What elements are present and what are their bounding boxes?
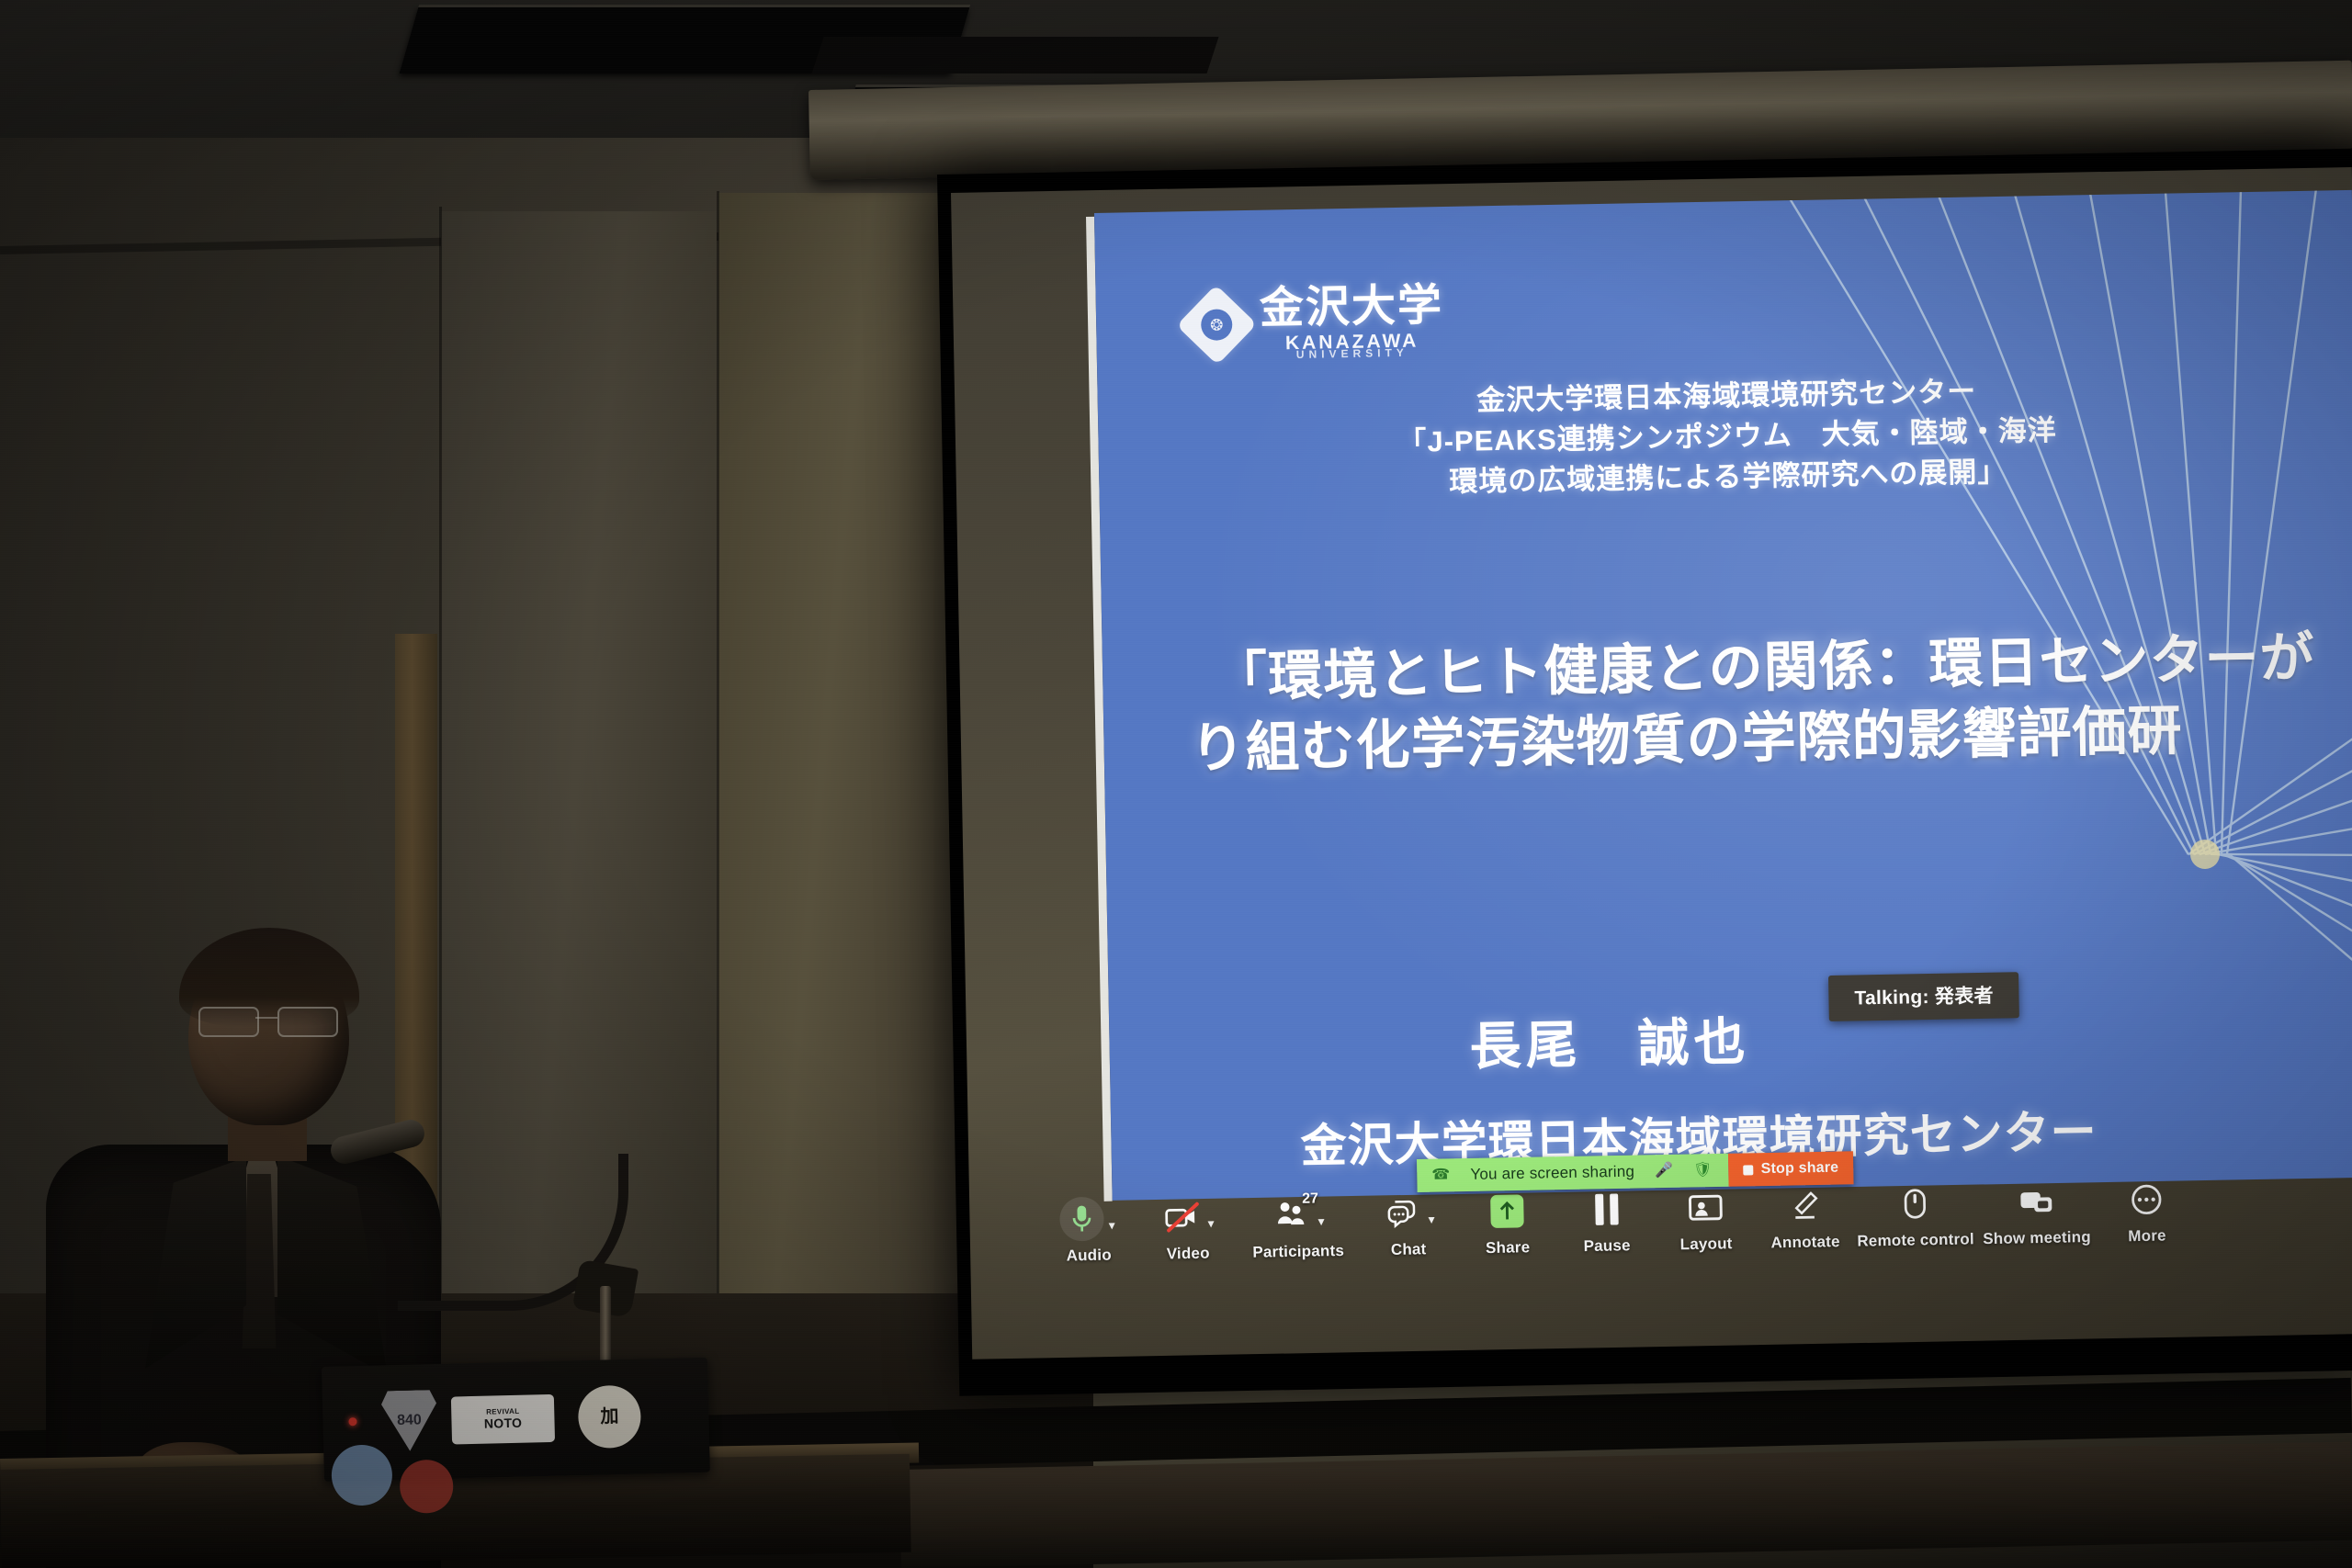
share-status-green-section: ☎ You are screen sharing 🎤 🛡 <box>1417 1154 1729 1192</box>
screenshot-stage: ❂ 金沢大学 KANAZAWA UNIVERSITY 金沢大学環日本海域環境研究… <box>0 0 2352 1568</box>
chevron-down-icon[interactable]: ▾ <box>1317 1214 1324 1227</box>
toolbar-label-layout: Layout <box>1679 1235 1732 1254</box>
kanazawa-university-logo: ❂ 金沢大学 KANAZAWA UNIVERSITY <box>1188 284 1444 362</box>
toolbar-label-participants: Participants <box>1252 1242 1344 1262</box>
toolbar-button-share[interactable]: Share <box>1457 1185 1557 1258</box>
toolbar-button-annotate[interactable]: Annotate <box>1755 1179 1855 1253</box>
toolbar-button-pause[interactable]: Pause <box>1556 1183 1657 1257</box>
pencil-icon <box>1784 1185 1826 1226</box>
toolbar-label-audio: Audio <box>1066 1247 1112 1266</box>
toolbar-button-layout[interactable]: Layout <box>1656 1181 1756 1255</box>
toolbar-label-pause: Pause <box>1583 1236 1630 1256</box>
toolbar-button-participants[interactable]: 27 ▾ Participants <box>1237 1189 1359 1262</box>
chevron-down-icon[interactable]: ▾ <box>1207 1216 1214 1229</box>
stop-share-button[interactable]: Stop share <box>1728 1151 1853 1186</box>
ceiling-vent <box>812 37 1219 73</box>
presenter-laptop: 840 REVIVAL NOTO 加 <box>322 1358 710 1482</box>
toolbar-button-show-meeting[interactable]: Show meeting <box>1975 1175 2098 1248</box>
kanazawa-crest-icon: ❂ <box>1176 285 1257 366</box>
toolbar-button-more[interactable]: More <box>2097 1173 2197 1247</box>
laptop-sticker: 加 <box>578 1385 642 1450</box>
symposium-heading: 金沢大学環日本海域環境研究センター 「J-PEAKS連携シンポジウム 大気・陸域… <box>1097 365 2352 509</box>
shield-check-icon[interactable]: 🛡 <box>1693 1163 1713 1178</box>
sticker-line-2: NOTO <box>484 1416 523 1431</box>
participants-count-badge: 27 <box>1302 1190 1318 1207</box>
chat-bubble-icon <box>1381 1192 1422 1234</box>
toolbar-label-remote-control: Remote control <box>1857 1230 1974 1250</box>
toolbar-button-audio[interactable]: ▾ Audio <box>1038 1192 1138 1266</box>
wall-panel <box>441 211 717 1295</box>
microphone-icon <box>1061 1199 1102 1240</box>
layout-icon <box>1685 1187 1726 1228</box>
wall-panel <box>718 193 965 1295</box>
presenter-name: 長尾 誠也 <box>1469 1000 1750 1080</box>
share-up-arrow-icon <box>1487 1190 1528 1232</box>
laptop-power-led <box>348 1417 356 1426</box>
stop-square-icon <box>1744 1165 1754 1175</box>
share-status-text: You are screen sharing <box>1470 1163 1634 1184</box>
toolbar-label-annotate: Annotate <box>1770 1233 1840 1252</box>
toolbar-button-chat[interactable]: ▾ Chat <box>1358 1187 1458 1260</box>
toolbar-label-video: Video <box>1167 1245 1210 1264</box>
toolbar-button-remote-control[interactable]: Remote control <box>1854 1177 1976 1250</box>
chevron-down-icon[interactable]: ▾ <box>1108 1218 1114 1231</box>
pause-icon <box>1586 1189 1627 1230</box>
laptop-sticker: 840 <box>381 1390 438 1451</box>
logo-wordmark: 金沢大学 KANAZAWA UNIVERSITY <box>1260 284 1444 361</box>
microphone-icon[interactable]: 🎤 <box>1655 1164 1673 1179</box>
slide-title: 「環境とヒト健康との関係：環日センターが り組む化学汚染物質の学際的影響評価研 <box>1213 615 2352 784</box>
participants-icon: 27 <box>1271 1195 1312 1236</box>
windows-icon <box>2016 1181 2057 1223</box>
logo-japanese-name: 金沢大学 <box>1260 284 1444 332</box>
chevron-down-icon[interactable]: ▾ <box>1428 1213 1434 1225</box>
video-camera-off-icon <box>1160 1197 1202 1238</box>
toolbar-button-video[interactable]: ▾ Video <box>1137 1190 1238 1264</box>
crest-inner-glyph: ❂ <box>1201 309 1233 341</box>
shared-slide: ❂ 金沢大学 KANAZAWA UNIVERSITY 金沢大学環日本海域環境研究… <box>1094 190 2352 1201</box>
ellipsis-circle-icon <box>2126 1179 2167 1220</box>
toolbar-label-show-meeting: Show meeting <box>1983 1228 2091 1248</box>
wall-seam <box>717 191 719 1298</box>
toolbar-label-chat: Chat <box>1391 1240 1427 1259</box>
laptop-sticker: REVIVAL NOTO <box>451 1394 555 1445</box>
phone-icon: ☎ <box>1431 1168 1450 1182</box>
talking-indicator: Talking: 発表者 <box>1828 972 2019 1021</box>
toolbar-label-share: Share <box>1486 1238 1531 1258</box>
stop-share-label: Stop share <box>1760 1160 1838 1179</box>
eyeglasses <box>198 1007 345 1034</box>
toolbar-label-more: More <box>2128 1227 2166 1247</box>
mouse-icon <box>1894 1183 1936 1224</box>
